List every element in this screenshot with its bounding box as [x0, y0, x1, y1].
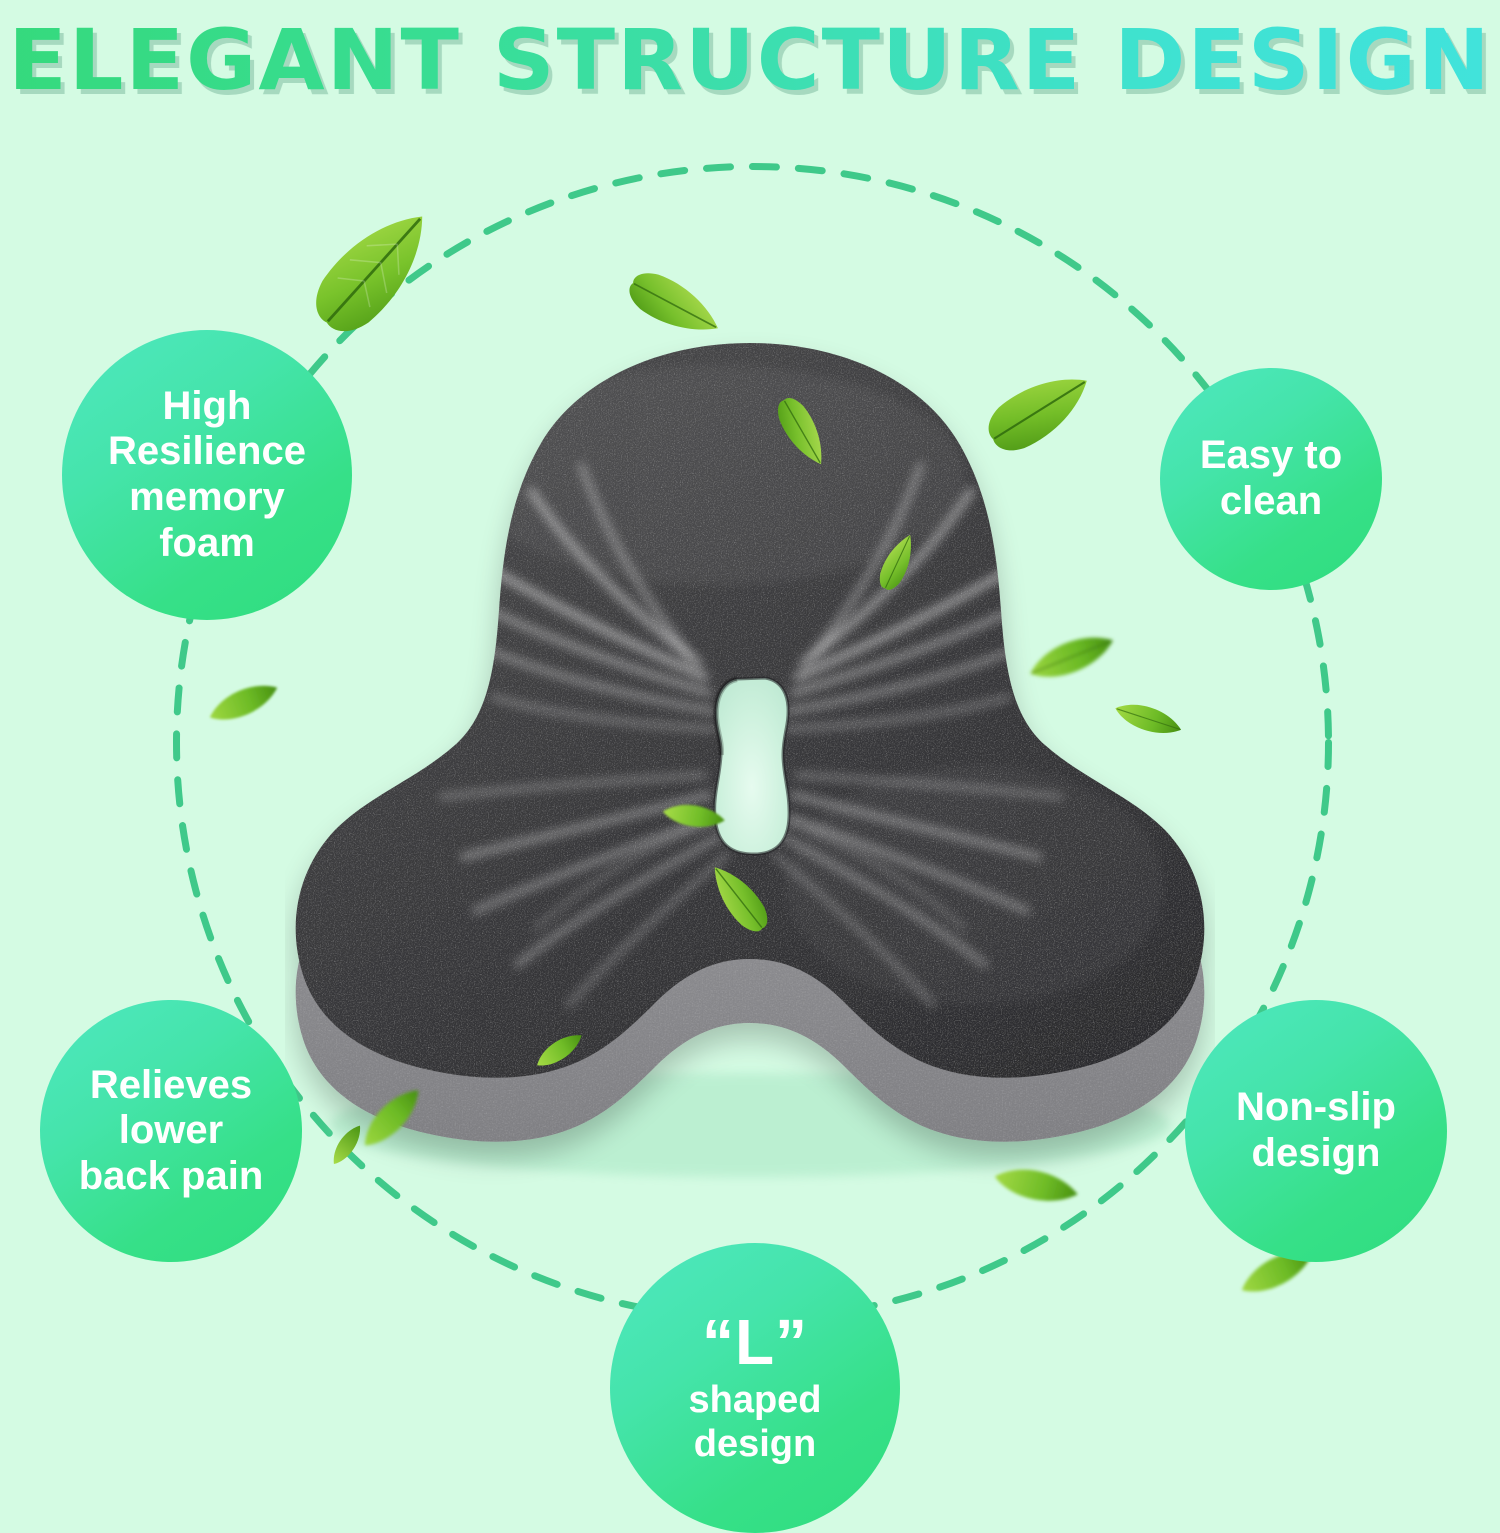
badge-line: back pain — [71, 1154, 272, 1200]
badge-l-shaped-design[interactable]: “L” shaped design — [610, 1243, 900, 1533]
tea-leaf-icon — [322, 1125, 374, 1167]
badge-line: memory — [100, 475, 314, 521]
badge-line: Easy to — [1192, 433, 1350, 479]
badge-relieves-lower-back-pain[interactable]: Relieves lower back pain — [40, 1000, 302, 1262]
badge-line: design — [680, 1422, 829, 1466]
tea-leaf-icon — [620, 252, 732, 360]
badge-non-slip-design[interactable]: Non-slip design — [1185, 1000, 1447, 1262]
badge-easy-to-clean[interactable]: Easy to clean — [1160, 368, 1382, 590]
badge-line: lower — [71, 1108, 272, 1154]
page-title: ELEGANT STRUCTURE DESIGN — [0, 18, 1500, 102]
tea-leaf-icon — [530, 1028, 590, 1076]
tea-leaf-icon — [292, 192, 457, 347]
tea-leaf-icon — [1020, 620, 1124, 700]
badge-line: High — [100, 384, 314, 430]
tea-leaf-icon — [658, 790, 728, 846]
tea-leaf-icon — [200, 672, 288, 738]
badge-quote-line: “L” — [680, 1310, 829, 1375]
tea-leaf-icon — [1108, 690, 1186, 752]
badge-line: Non-slip — [1228, 1085, 1404, 1131]
tea-leaf-icon — [862, 525, 934, 597]
badge-line: Resilience — [100, 429, 314, 475]
badge-line: Relieves — [71, 1063, 272, 1109]
badge-high-resilience-memory-foam[interactable]: High Resilience memory foam — [62, 330, 352, 620]
badge-line: shaped — [680, 1378, 829, 1422]
tea-leaf-icon — [985, 1150, 1085, 1226]
infographic-canvas: ELEGANT STRUCTURE DESIGN — [0, 0, 1500, 1500]
badge-line: clean — [1192, 479, 1350, 525]
tea-leaf-icon — [690, 852, 786, 942]
tea-leaf-icon — [760, 390, 846, 476]
badge-line: foam — [100, 521, 314, 567]
badge-line: design — [1228, 1131, 1404, 1177]
tea-leaf-icon — [975, 350, 1105, 470]
